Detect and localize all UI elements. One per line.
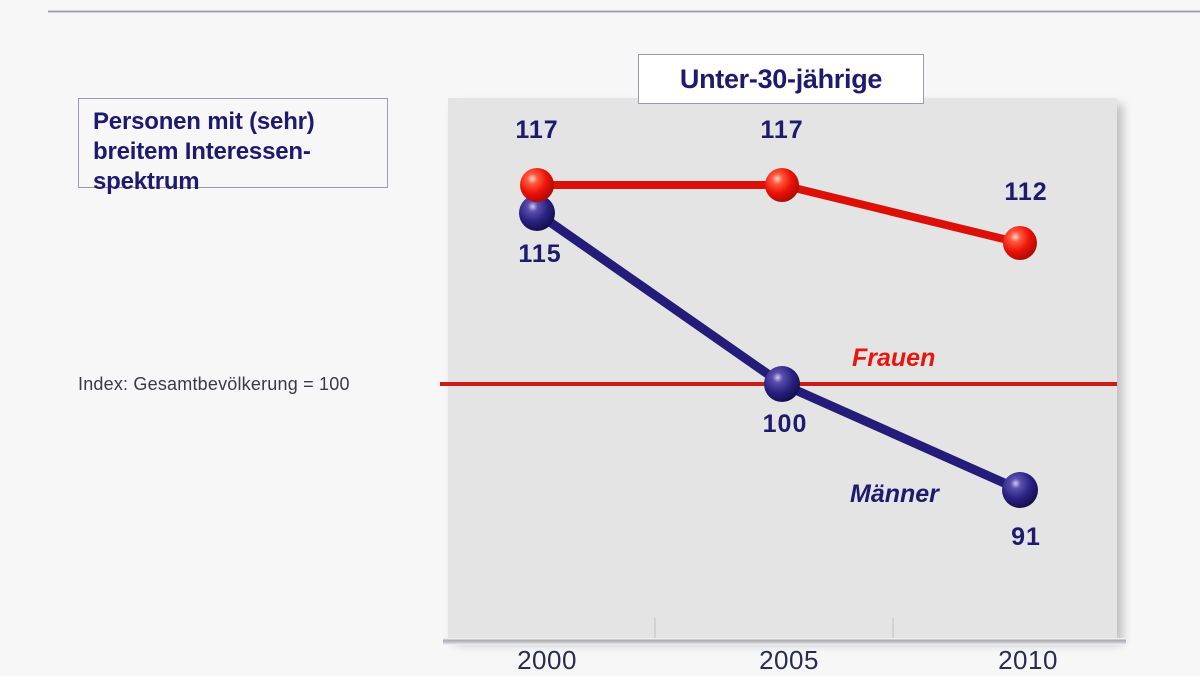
marker-frauen-2000 [520,168,554,202]
series-label-frauen: Frauen [852,344,935,373]
index-note: Index: Gesamtbevölkerung = 100 [78,374,350,395]
top-divider-rule [48,10,1200,13]
marker-maenner-2005 [764,366,800,402]
series-label-maenner: Männer [850,480,939,509]
caption-line-2: breitem Interessen- [93,137,387,167]
caption-box: Personen mit (sehr) breitem Interessen- … [78,98,388,188]
chart-plot-area: 117 117 112 115 100 91 Frauen Männer [448,98,1117,638]
value-label-maenner-2005: 100 [763,410,808,439]
value-label-frauen-2010: 112 [1004,178,1047,207]
value-label-frauen-2000: 117 [515,116,558,145]
marker-maenner-2010 [1002,472,1038,508]
value-label-maenner-2000: 115 [518,240,561,269]
x-axis-strip [443,638,1126,645]
x-axis-label-2000: 2000 [517,645,577,676]
marker-frauen-2010 [1003,226,1037,260]
x-axis-label-2010: 2010 [998,645,1058,676]
value-label-frauen-2005: 117 [760,116,803,145]
marker-frauen-2005 [765,168,799,202]
caption-line-1: Personen mit (sehr) [93,107,387,137]
caption-line-3: spektrum [93,167,387,197]
x-axis-label-2005: 2005 [759,645,819,676]
slide-canvas: Personen mit (sehr) breitem Interessen- … [0,0,1200,675]
chart-title-text: Unter-30-jährige [680,64,882,95]
value-label-maenner-2010: 91 [1011,523,1041,552]
chart-title-box: Unter-30-jährige [638,54,924,104]
series-line-maenner [537,213,1020,490]
